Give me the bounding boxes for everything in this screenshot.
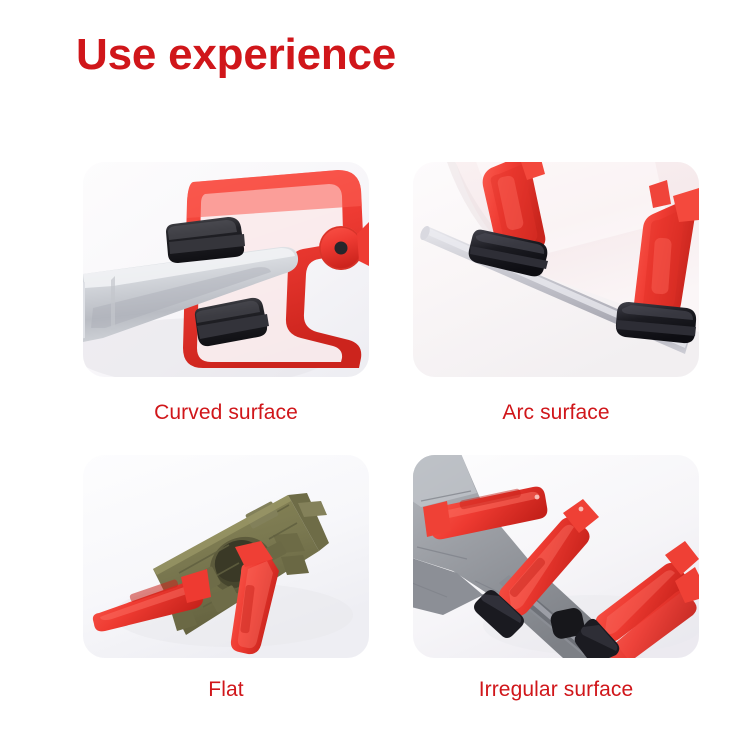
- use-case-card-arc-surface: Arc surface: [413, 162, 699, 425]
- caption-irregular-surface: Irregular surface: [413, 678, 699, 702]
- use-case-card-curved-surface: Curved surface: [83, 162, 369, 425]
- caption-arc-surface: Arc surface: [413, 401, 699, 425]
- use-case-card-flat-surface: Flat: [83, 455, 369, 702]
- page-title: Use experience: [76, 31, 396, 79]
- photo-flat-surface: [83, 455, 369, 658]
- caption-flat-surface: Flat: [83, 678, 369, 702]
- use-case-gallery: Curved surface: [0, 150, 750, 730]
- product-feature-page: Use experience: [0, 0, 750, 750]
- clamp-jaw-upper: [166, 217, 245, 263]
- use-case-card-irregular-surface: Irregular surface: [413, 455, 699, 702]
- photo-irregular-surface: [413, 455, 699, 658]
- caption-curved-surface: Curved surface: [83, 401, 369, 425]
- photo-arc-surface: [413, 162, 699, 377]
- photo-curved-surface: [83, 162, 369, 377]
